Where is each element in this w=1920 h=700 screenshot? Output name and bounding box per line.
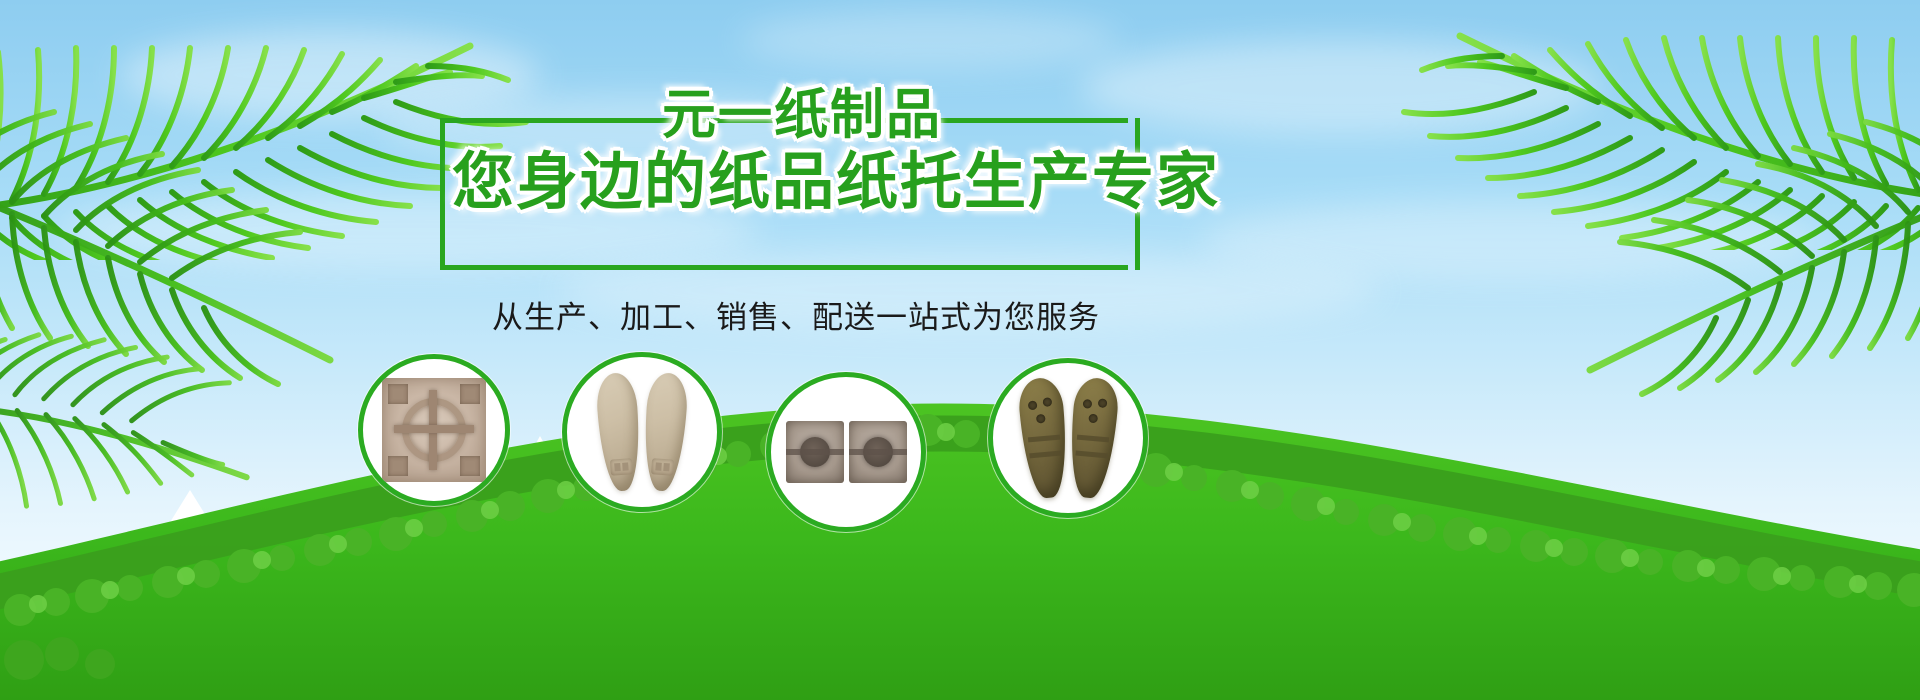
tray-corner [388, 456, 408, 476]
brand-title: 元一纸制品 [452, 86, 1152, 144]
insole-left [595, 372, 643, 493]
insole-heel-pad [651, 458, 674, 475]
shoe-form-rib [1076, 435, 1108, 443]
product-image-pulp-shoe-forms [993, 363, 1143, 513]
product-image-two-piece-pulp-tray [771, 377, 921, 527]
insole-right [641, 372, 689, 493]
shoe-form-hole [1088, 414, 1098, 424]
product-image-square-pulp-tray [363, 359, 505, 501]
tray-half-right [849, 421, 907, 483]
shoe-form-hole [1042, 397, 1052, 407]
product-circle-square-pulp-tray[interactable] [358, 354, 510, 506]
two-piece-tray-shape [786, 421, 907, 483]
tray-crossbar [394, 425, 474, 433]
insole-heel-pad [610, 458, 633, 475]
insole-pair-shape [599, 373, 685, 491]
palm-frond-top-right-lower [1560, 70, 1920, 400]
shoe-form-pair-shape [1022, 378, 1115, 498]
shoe-form-left [1016, 376, 1070, 499]
product-circle-pulp-shoe-forms[interactable] [988, 358, 1148, 518]
square-pulp-tray-shape [382, 378, 486, 482]
shoe-form-rib [1029, 451, 1061, 459]
tray-corner [460, 384, 480, 404]
headline-block: 元一纸制品 您身边的纸品纸托生产专家 [440, 96, 1140, 276]
tray-corner [388, 384, 408, 404]
palm-frond-bottom-left [0, 298, 275, 582]
tray-half-left [786, 421, 844, 483]
shoe-form-hole [1097, 398, 1107, 408]
shoe-form-rib [1027, 435, 1059, 443]
tray-corner [460, 456, 480, 476]
shoe-form-hole [1035, 414, 1045, 424]
shoe-form-hole [1027, 400, 1037, 410]
hero-banner: 元一纸制品 您身边的纸品纸托生产专家 从生产、加工、销售、配送一站式为您服务 [0, 0, 1920, 700]
product-image-paper-pulp-insoles [567, 357, 717, 507]
product-circle-two-piece-pulp-tray[interactable] [766, 372, 926, 532]
shoe-form-right [1065, 376, 1119, 499]
shoe-form-rib [1075, 451, 1107, 459]
page-title: 您身边的纸品纸托生产专家 [452, 148, 1152, 216]
shoe-form-hole [1082, 399, 1092, 409]
banner-subtitle: 从生产、加工、销售、配送一站式为您服务 [440, 292, 1152, 337]
product-circle-paper-pulp-insoles[interactable] [562, 352, 722, 512]
cloud-shape [740, 10, 1120, 70]
